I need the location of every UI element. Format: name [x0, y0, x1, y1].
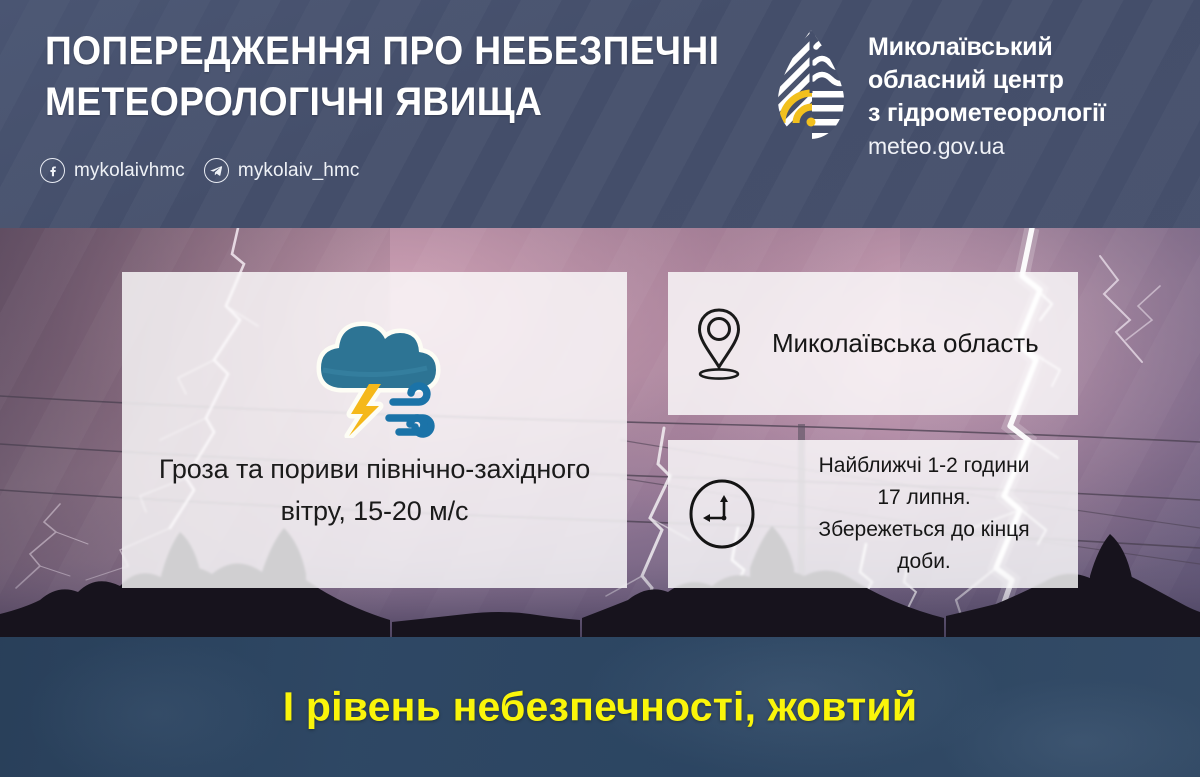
social-telegram[interactable]: mykolaiv_hmc — [204, 158, 360, 183]
logo-line-1: Миколаївський — [868, 33, 1053, 61]
facebook-icon — [40, 158, 65, 183]
facebook-handle: mykolaivhmc — [74, 160, 185, 182]
map-pin-icon — [694, 307, 744, 381]
timing-line-3: Збережеться до кінця — [780, 514, 1068, 546]
timing-card: Найближчі 1-2 години 17 липня. Збережеть… — [668, 440, 1078, 588]
danger-level-text: І рівень небезпечності, жовтий — [0, 684, 1200, 731]
timing-line-2: 17 липня. — [780, 482, 1068, 514]
logo-website-url[interactable]: meteo.gov.ua — [868, 133, 1004, 159]
region-card: Миколаївська область — [668, 272, 1078, 415]
region-name: Миколаївська область — [772, 328, 1039, 359]
telegram-icon — [204, 158, 229, 183]
weather-warning-poster: ПОПЕРЕДЖЕННЯ ПРО НЕБЕЗПЕЧНІ МЕТЕОРОЛОГІЧ… — [0, 0, 1200, 777]
thunderstorm-wind-icon — [299, 310, 451, 438]
header-banner: ПОПЕРЕДЖЕННЯ ПРО НЕБЕЗПЕЧНІ МЕТЕОРОЛОГІЧ… — [0, 0, 1200, 228]
logo-line-3: з гідрометеорології — [868, 99, 1106, 127]
title-line-1: ПОПЕРЕДЖЕННЯ ПРО НЕБЕЗПЕЧНІ — [45, 26, 715, 77]
storm-photo-background: Гроза та пориви північно-західного вітру… — [0, 228, 1200, 637]
clock-icon — [686, 478, 758, 550]
hazard-description: Гроза та пориви північно-західного вітру… — [140, 448, 610, 532]
water-droplet-logo-icon — [772, 27, 850, 145]
telegram-handle: mykolaiv_hmc — [238, 160, 360, 182]
danger-level-banner: І рівень небезпечності, жовтий — [0, 637, 1200, 777]
title-line-2: МЕТЕОРОЛОГІЧНІ ЯВИЩА — [45, 77, 715, 128]
timing-line-4: доби. — [780, 546, 1068, 578]
organization-logo: Миколаївський обласний центр з гідромете… — [772, 27, 1200, 162]
social-links: mykolaivhmc mykolaiv_hmc — [40, 158, 359, 183]
logo-line-2: обласний центр — [868, 66, 1064, 94]
hazard-card: Гроза та пориви північно-західного вітру… — [122, 272, 627, 588]
timing-line-1: Найближчі 1-2 години — [780, 450, 1068, 482]
page-title: ПОПЕРЕДЖЕННЯ ПРО НЕБЕЗПЕЧНІ МЕТЕОРОЛОГІЧ… — [45, 26, 765, 128]
logo-text-block: Миколаївський обласний центр з гідромете… — [868, 27, 1200, 162]
social-facebook[interactable]: mykolaivhmc — [40, 158, 185, 183]
timing-description: Найближчі 1-2 години 17 липня. Збережеть… — [780, 450, 1078, 578]
